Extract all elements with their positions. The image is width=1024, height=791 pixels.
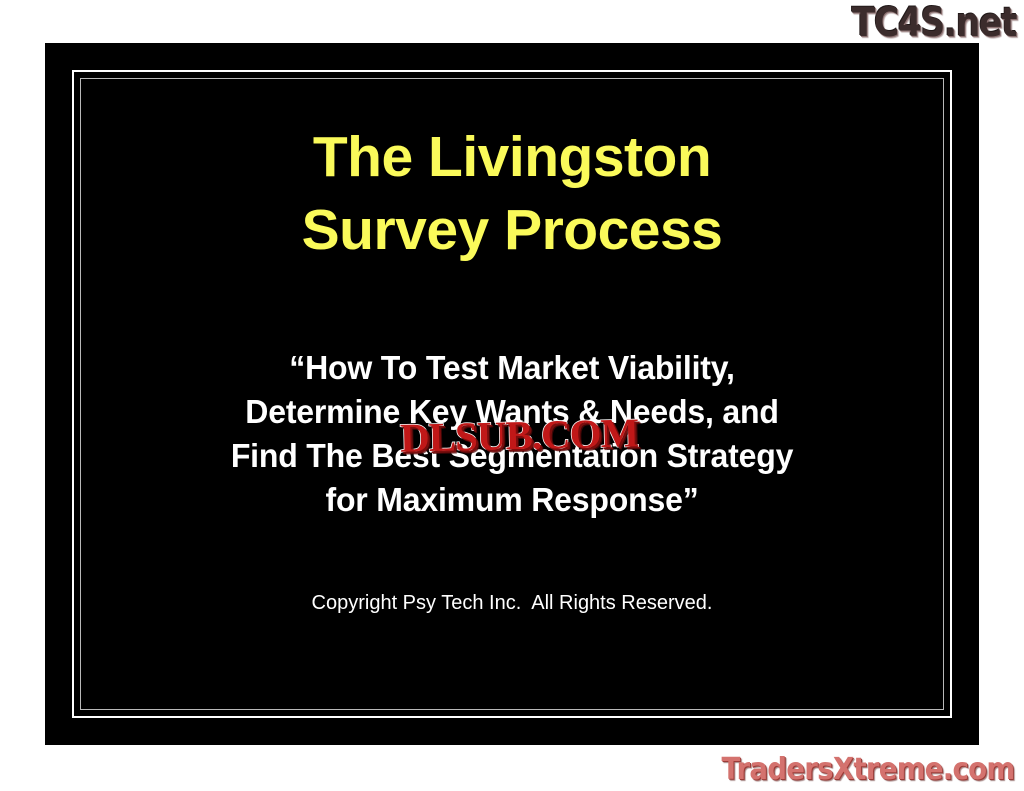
slide-content: The Livingston Survey Process “How To Te… (95, 43, 929, 745)
watermark-tradersxtreme: TradersXtreme.com (721, 752, 1014, 787)
slide-copyright-notice: Copyright Psy Tech Inc. All Rights Reser… (95, 591, 929, 615)
slide-page: { "slide": { "title": "The Livingston\nS… (0, 0, 1024, 791)
slide-subtitle: “How To Test Market Viability, Determine… (100, 346, 925, 522)
watermark-tc4s: TC4S.net (852, 2, 1016, 44)
slide-panel: The Livingston Survey Process “How To Te… (45, 43, 979, 745)
slide-title: The Livingston Survey Process (95, 121, 929, 267)
